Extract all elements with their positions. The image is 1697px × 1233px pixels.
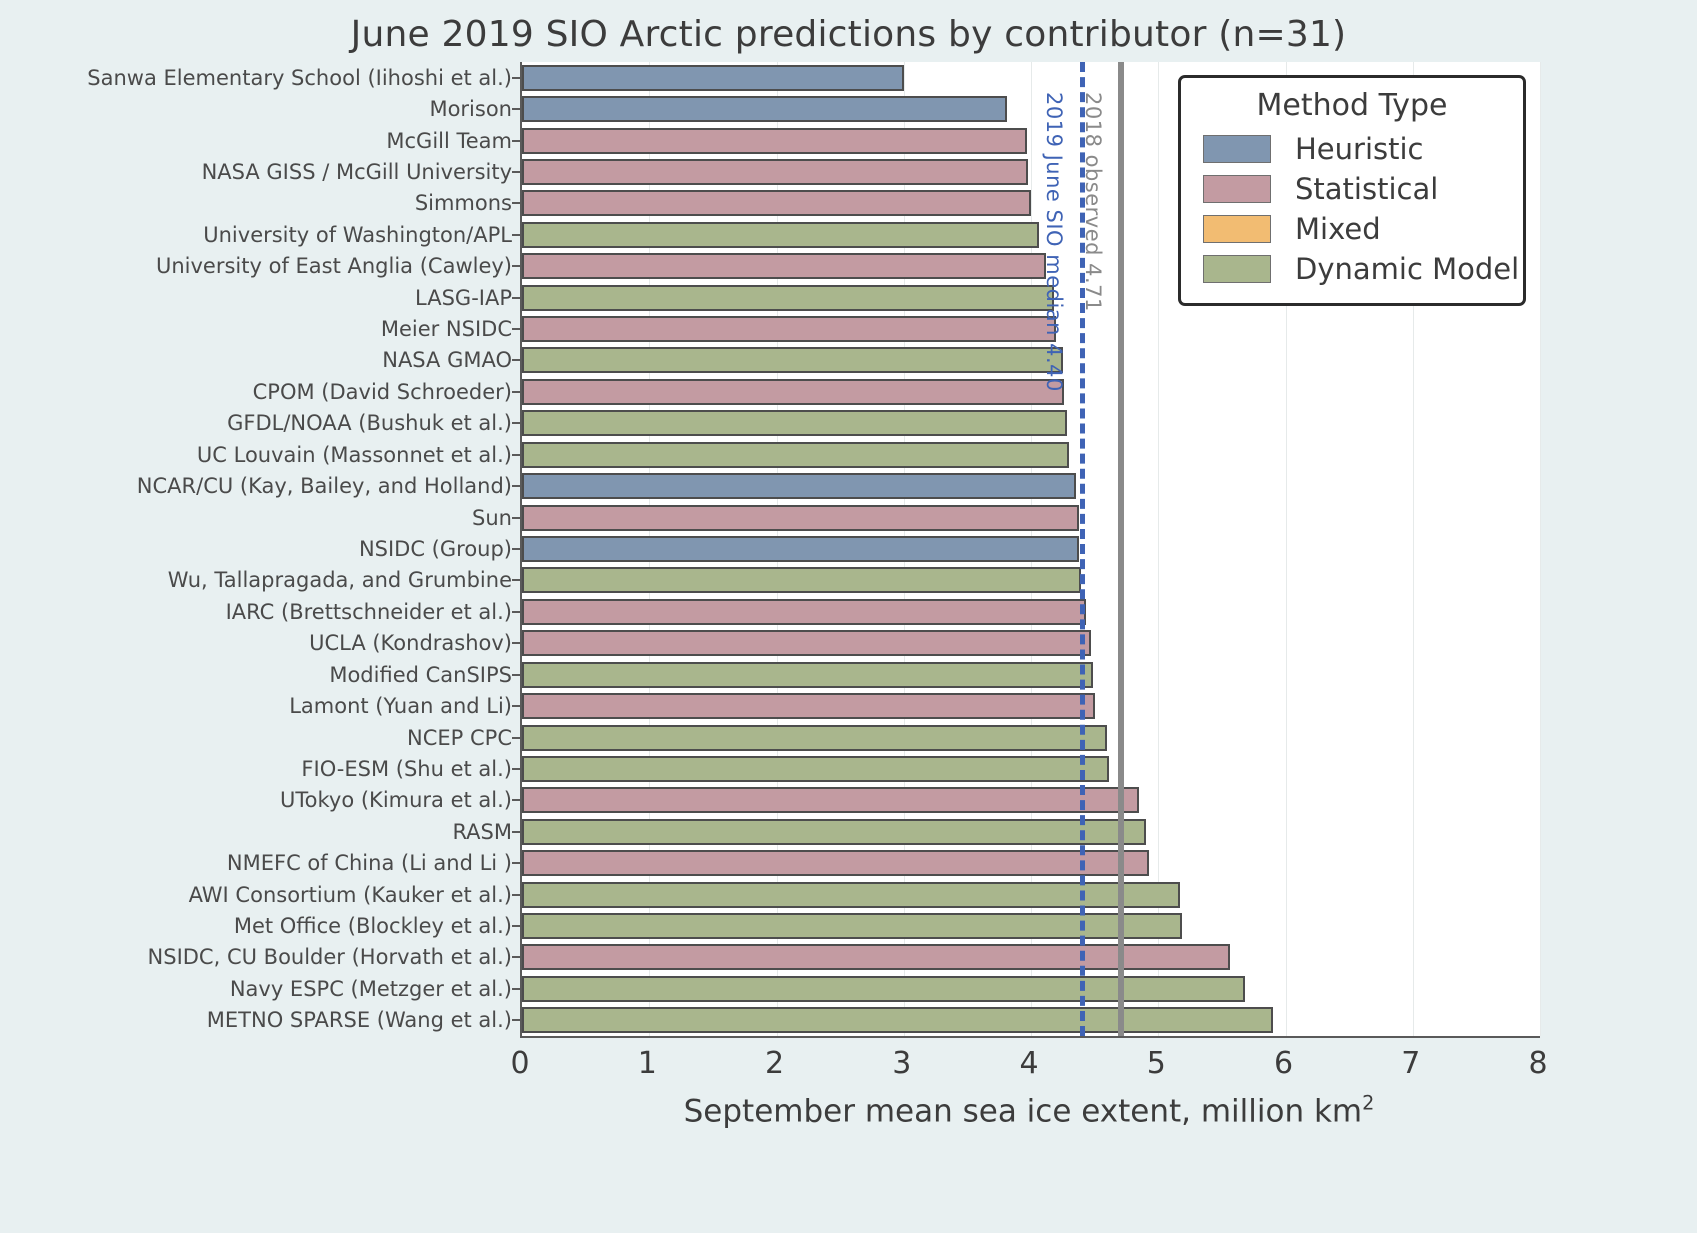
y-axis-label: NSIDC, CU Boulder (Horvath et al.) [0, 944, 512, 970]
legend-swatch-icon [1203, 175, 1271, 203]
bar[interactable] [522, 410, 1067, 436]
legend-swatch-icon [1203, 255, 1271, 283]
x-axis-tick-label: 7 [1381, 1046, 1441, 1081]
y-axis-tick-mark [512, 956, 520, 958]
bar-row[interactable] [522, 442, 1540, 468]
bar-row[interactable] [522, 599, 1540, 625]
y-axis-tick-mark [512, 988, 520, 990]
y-axis-label: Sanwa Elementary School (Iihoshi et al.) [0, 65, 512, 91]
y-axis-tick-mark [512, 862, 520, 864]
bar[interactable] [522, 819, 1146, 845]
bar[interactable] [522, 159, 1028, 185]
y-axis-tick-mark [512, 485, 520, 487]
reference-line-label: 2018 observed 4.71 [1081, 92, 1105, 312]
bar[interactable] [522, 505, 1079, 531]
y-axis-tick-mark [512, 517, 520, 519]
y-axis-label: Met Office (Blockley et al.) [0, 913, 512, 939]
x-axis-title: September mean sea ice extent, million k… [520, 1092, 1538, 1129]
x-axis-tick-label: 4 [999, 1046, 1059, 1081]
legend: Method Type HeuristicStatisticalMixedDyn… [1178, 75, 1526, 306]
bar-row[interactable] [522, 316, 1540, 342]
bar[interactable] [522, 316, 1056, 342]
bar[interactable] [522, 850, 1149, 876]
legend-swatch-icon [1203, 215, 1271, 243]
y-axis-label: Simmons [0, 190, 512, 216]
y-axis-label: METNO SPARSE (Wang et al.) [0, 1007, 512, 1033]
bar-row[interactable] [522, 725, 1540, 751]
y-axis-label: Morison [0, 96, 512, 122]
bar[interactable] [522, 96, 1007, 122]
y-axis-tick-mark [512, 77, 520, 79]
bar-row[interactable] [522, 819, 1540, 845]
y-axis-label: Wu, Tallapragada, and Grumbine [0, 567, 512, 593]
x-axis-tick-label: 2 [745, 1046, 805, 1081]
y-axis-tick-mark [512, 171, 520, 173]
y-axis-tick-mark [512, 454, 520, 456]
x-axis-tick-label: 8 [1508, 1046, 1568, 1081]
y-axis-label: UTokyo (Kimura et al.) [0, 787, 512, 813]
bar[interactable] [522, 285, 1054, 311]
bar[interactable] [522, 347, 1063, 373]
chart-figure: June 2019 SIO Arctic predictions by cont… [0, 0, 1697, 1233]
y-axis-label: University of Washington/APL [0, 222, 512, 248]
y-axis-tick-mark [512, 611, 520, 613]
y-axis-tick-mark [512, 391, 520, 393]
bar[interactable] [522, 536, 1079, 562]
y-axis-tick-mark [512, 768, 520, 770]
y-axis-tick-mark [512, 140, 520, 142]
reference-line-label: 2019 June SIO median 4.40 [1042, 92, 1066, 392]
bar-row[interactable] [522, 630, 1540, 656]
y-axis-tick-mark [512, 422, 520, 424]
y-axis-tick-mark [512, 674, 520, 676]
bar-row[interactable] [522, 410, 1540, 436]
bar[interactable] [522, 787, 1139, 813]
y-axis-tick-mark [512, 328, 520, 330]
bar-row[interactable] [522, 913, 1540, 939]
legend-item[interactable]: Dynamic Model [1181, 249, 1523, 289]
y-axis-tick-mark [512, 642, 520, 644]
bar[interactable] [522, 1007, 1273, 1033]
bar[interactable] [522, 976, 1245, 1002]
y-axis-tick-mark [512, 234, 520, 236]
y-axis-tick-mark [512, 579, 520, 581]
bar-row[interactable] [522, 882, 1540, 908]
legend-swatch-icon [1203, 135, 1271, 163]
reference-line [1118, 62, 1124, 1036]
y-axis-tick-mark [512, 737, 520, 739]
legend-item[interactable]: Heuristic [1181, 129, 1523, 169]
legend-items: HeuristicStatisticalMixedDynamic Model [1181, 129, 1523, 289]
y-axis-tick-mark [512, 831, 520, 833]
x-axis-unit-exponent: 2 [1362, 1092, 1374, 1115]
y-axis-label: NASA GISS / McGill University [0, 159, 512, 185]
x-axis-unit: 2 [1362, 1093, 1374, 1129]
y-axis-tick-mark [512, 705, 520, 707]
legend-label: Statistical [1295, 172, 1438, 206]
y-axis-label: Sun [0, 505, 512, 531]
bar-row[interactable] [522, 662, 1540, 688]
y-axis-tick-mark [512, 925, 520, 927]
y-axis-label: LASG-IAP [0, 285, 512, 311]
bar[interactable] [522, 222, 1039, 248]
y-axis-label: Navy ESPC (Metzger et al.) [0, 976, 512, 1002]
bar-row[interactable] [522, 976, 1540, 1002]
bar-row[interactable] [522, 756, 1540, 782]
bar-row[interactable] [522, 850, 1540, 876]
y-axis-label: McGill Team [0, 128, 512, 154]
x-axis-tick-label: 5 [1126, 1046, 1186, 1081]
bar[interactable] [522, 379, 1064, 405]
legend-title: Method Type [1181, 88, 1523, 123]
legend-item[interactable]: Mixed [1181, 209, 1523, 249]
y-axis-tick-mark [512, 108, 520, 110]
y-axis-label: Lamont (Yuan and Li) [0, 693, 512, 719]
bar[interactable] [522, 442, 1069, 468]
gridline [1540, 62, 1541, 1036]
y-axis-label: RASM [0, 819, 512, 845]
bar[interactable] [522, 630, 1091, 656]
y-axis-label: NCAR/CU (Kay, Bailey, and Holland) [0, 473, 512, 499]
y-axis-label: CPOM (David Schroeder) [0, 379, 512, 405]
y-axis-label: GFDL/NOAA (Bushuk et al.) [0, 410, 512, 436]
y-axis-tick-mark [512, 359, 520, 361]
bar[interactable] [522, 190, 1031, 216]
y-axis-tick-mark [512, 202, 520, 204]
bar-row[interactable] [522, 693, 1540, 719]
y-axis-label: Meier NSIDC [0, 316, 512, 342]
bar[interactable] [522, 253, 1046, 279]
bar-row[interactable] [522, 787, 1540, 813]
bar-row[interactable] [522, 505, 1540, 531]
legend-label: Mixed [1295, 212, 1381, 246]
y-axis-tick-mark [512, 799, 520, 801]
bar[interactable] [522, 725, 1107, 751]
x-axis-tick-label: 0 [490, 1046, 550, 1081]
y-axis-tick-mark [512, 297, 520, 299]
y-axis-label: University of East Anglia (Cawley) [0, 253, 512, 279]
page-title: June 2019 SIO Arctic predictions by cont… [0, 14, 1697, 55]
y-axis-label: Modified CanSIPS [0, 662, 512, 688]
bar-row[interactable] [522, 347, 1540, 373]
x-axis-tick-label: 6 [1254, 1046, 1314, 1081]
bar[interactable] [522, 567, 1081, 593]
bar-row[interactable] [522, 379, 1540, 405]
y-axis-label: NASA GMAO [0, 347, 512, 373]
y-axis-tick-mark [512, 1019, 520, 1021]
bar[interactable] [522, 756, 1109, 782]
legend-label: Dynamic Model [1295, 252, 1519, 286]
bar[interactable] [522, 599, 1086, 625]
bar-row[interactable] [522, 1007, 1540, 1033]
y-axis-label: NSIDC (Group) [0, 536, 512, 562]
y-axis-label: NCEP CPC [0, 725, 512, 751]
legend-label: Heuristic [1295, 132, 1424, 166]
y-axis-tick-mark [512, 265, 520, 267]
y-axis-label: FIO-ESM (Shu et al.) [0, 756, 512, 782]
bar[interactable] [522, 65, 904, 91]
bar-row[interactable] [522, 473, 1540, 499]
x-axis-tick-label: 3 [872, 1046, 932, 1081]
bar-row[interactable] [522, 567, 1540, 593]
x-axis-tick-label: 1 [617, 1046, 677, 1081]
bar[interactable] [522, 128, 1027, 154]
y-axis-label: NMEFC of China (Li and Li ) [0, 850, 512, 876]
y-axis-label: AWI Consortium (Kauker et al.) [0, 882, 512, 908]
legend-item[interactable]: Statistical [1181, 169, 1523, 209]
bar[interactable] [522, 662, 1093, 688]
y-axis-label: IARC (Brettschneider et al.) [0, 599, 512, 625]
y-axis-tick-mark [512, 894, 520, 896]
y-axis-label: UCLA (Kondrashov) [0, 630, 512, 656]
y-axis-tick-mark [512, 548, 520, 550]
x-axis-title-text: September mean sea ice extent, million k… [684, 1093, 1363, 1129]
bar[interactable] [522, 473, 1076, 499]
bar-row[interactable] [522, 536, 1540, 562]
y-axis-label: UC Louvain (Massonnet et al.) [0, 442, 512, 468]
bar-row[interactable] [522, 944, 1540, 970]
bar[interactable] [522, 693, 1095, 719]
